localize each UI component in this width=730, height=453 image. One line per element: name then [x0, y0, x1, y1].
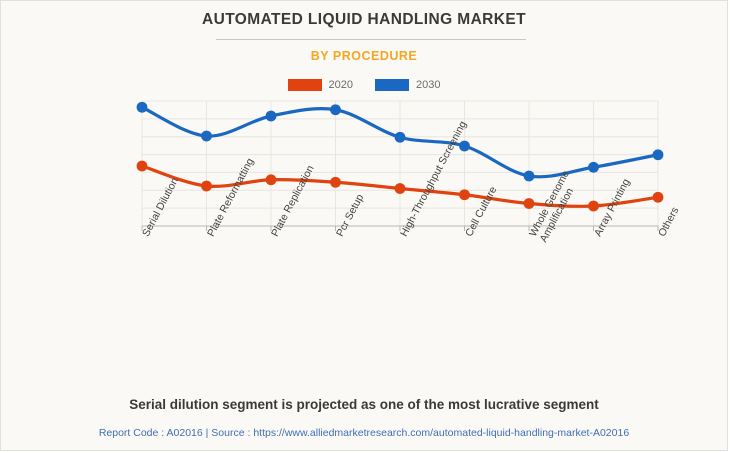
chart-caption: Serial dilution segment is projected as … [1, 397, 727, 412]
x-axis-label-4: High-Throughput Screening [398, 119, 469, 239]
x-axis-label-1: Plate Reformatting [205, 156, 256, 238]
x-axis-label-0: Serial Dilution [140, 176, 181, 239]
x-axis-label-6: Whole GenomeAmplification [527, 169, 582, 245]
x-axis-label-line: Array Printing [592, 177, 632, 239]
x-axis-label-2: Plate Replication [269, 163, 317, 238]
x-axis-label-line: Pcr Setup [334, 192, 366, 238]
x-axis-label-7: Array Printing [592, 177, 632, 239]
chart-card: AUTOMATED LIQUID HANDLING MARKET BY PROC… [0, 0, 728, 451]
x-axis-label-3: Pcr Setup [334, 192, 366, 238]
x-axis-label-line: Plate Replication [269, 163, 317, 238]
x-axis-label-group: Serial DilutionPlate ReformattingPlate R… [1, 1, 727, 450]
x-axis-label-line: Cell Culture [463, 185, 499, 239]
x-axis-label-5: Cell Culture [463, 185, 499, 239]
x-axis-label-8: Others [656, 205, 681, 238]
x-axis-label-line: Others [656, 205, 681, 238]
x-axis-label-line: High-Throughput Screening [398, 119, 469, 239]
x-axis-label-line: Serial Dilution [140, 176, 181, 239]
x-axis-label-line: Plate Reformatting [205, 156, 256, 238]
report-source-text: Report Code : A02016 | Source : https://… [1, 427, 727, 439]
